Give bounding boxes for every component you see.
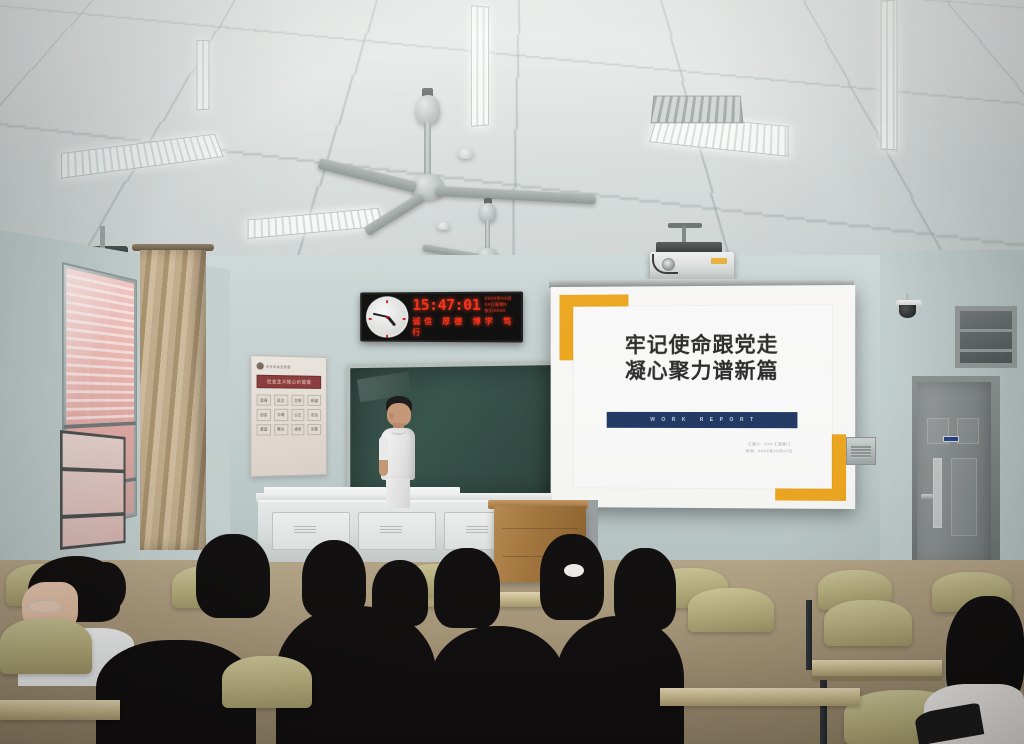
presentation-slide: 牢记使命跟党走 凝心聚力谱新篇 WORK REPORT 汇报人：XXX 汇报部门… — [551, 285, 856, 509]
led-motto-display: 诚信 厚德 博学 笃行 — [412, 316, 516, 338]
lectern-seam — [502, 528, 578, 529]
student — [556, 616, 684, 744]
led-clock-sign: 15:47:01 XXXX年XX月XX日星期X 农历XXXX 诚信 厚德 博学 … — [360, 291, 523, 342]
slide-band-label: WORK REPORT — [644, 417, 760, 423]
presenter-arm — [379, 436, 388, 476]
presenter — [374, 396, 420, 508]
poster-value-cell: 平等 — [274, 409, 288, 421]
emblem-icon — [257, 362, 264, 369]
wall-speaker-box — [846, 437, 876, 465]
poster-logo: 中共中央宣传部 — [257, 362, 322, 371]
presenter-ear — [389, 413, 394, 419]
core-values-poster: 中共中央宣传部 社会主义核心价值观 富强 民主 文明 和谐 自由 平等 公正 法… — [250, 355, 327, 477]
wall-speaker-grille — [851, 445, 871, 458]
chair — [222, 656, 312, 708]
door-panel — [951, 458, 977, 536]
student-hair — [434, 548, 500, 628]
led-time-display: 15:47:01 — [412, 296, 480, 314]
door-sign-plate — [943, 436, 959, 442]
poster-value-cell: 敬业 — [274, 424, 288, 436]
clock-hour-hand — [387, 316, 396, 326]
poster-value-cell: 法治 — [308, 409, 322, 421]
student-hair — [556, 616, 684, 744]
slide-presenter-info: 汇报人：XXX 汇报部门 时间：XXXX年XX月XX日 — [746, 441, 793, 456]
poster-value-cell: 友善 — [308, 424, 322, 436]
presenter-trousers — [386, 478, 410, 508]
slide-title-line-2: 凝心聚力谱新篇 — [573, 359, 832, 385]
window-mullion — [63, 467, 124, 473]
slide-content-panel: 牢记使命跟党走 凝心聚力谱新篇 WORK REPORT 汇报人：XXX 汇报部门… — [573, 305, 832, 489]
slide-title: 牢记使命跟党走 凝心聚力谱新篇 — [573, 333, 832, 385]
analog-clock-face — [366, 296, 409, 338]
poster-org-label: 中共中央宣传部 — [266, 364, 291, 369]
presenter-collar — [391, 428, 406, 435]
poster-value-cell: 和谐 — [308, 395, 322, 407]
desk — [0, 700, 120, 720]
window-curtain — [140, 250, 206, 550]
student-ponytail — [86, 562, 126, 612]
led-date-note: XXXX年XX月XX日星期X 农历XXXX — [484, 295, 516, 314]
door-transom-window — [955, 306, 1017, 368]
poster-value-cell: 文明 — [291, 395, 305, 407]
poster-value-cell: 自由 — [257, 409, 271, 421]
poster-value-cell: 公正 — [291, 409, 305, 421]
projector-label — [711, 258, 727, 264]
door-handle[interactable] — [921, 494, 933, 499]
door-panel — [957, 418, 979, 444]
desk-edge — [812, 676, 942, 681]
poster-value-cell: 富强 — [257, 394, 271, 406]
desk-leg — [806, 600, 812, 670]
chair — [824, 600, 912, 646]
security-camera — [896, 300, 922, 320]
poster-value-cell: 民主 — [274, 394, 288, 406]
student — [540, 534, 604, 620]
student — [196, 534, 270, 618]
slide-title-line-1: 牢记使命跟党走 — [573, 333, 832, 359]
student-hair-tie — [564, 564, 584, 577]
student — [924, 596, 1024, 744]
transom-bar — [960, 329, 1012, 332]
desk — [812, 660, 942, 676]
desk — [660, 688, 860, 706]
slide-presenter-line-2: 时间：XXXX年XX月XX日 — [746, 448, 793, 456]
door-window-slot — [933, 458, 942, 528]
chair — [688, 588, 774, 632]
transom-bar — [960, 349, 1012, 352]
student-hair — [540, 534, 604, 620]
student-hair — [430, 626, 566, 744]
chair — [0, 618, 92, 674]
slide-accent-bottom-right-vertical — [830, 434, 846, 501]
poster-value-cell: 诚信 — [291, 424, 305, 436]
stage-vent — [466, 526, 488, 533]
poster-values-grid: 富强 民主 文明 和谐 自由 平等 公正 法治 爱国 敬业 诚信 友善 — [257, 394, 322, 436]
poster-banner-title: 社会主义核心价值观 — [257, 375, 322, 389]
stage-vent — [294, 526, 316, 533]
projection-screen: 牢记使命跟党走 凝心聚力谱新篇 WORK REPORT 汇报人：XXX 汇报部门… — [551, 285, 856, 509]
camera-dome-lens — [899, 305, 916, 318]
classroom-photo: 15:47:01 XXXX年XX月XX日星期X 农历XXXX 诚信 厚德 博学 … — [0, 0, 1024, 744]
classroom-door[interactable] — [917, 382, 991, 566]
student-hair — [196, 534, 270, 618]
window-lower-pane — [60, 430, 126, 550]
ceiling-projector — [650, 238, 734, 282]
student — [434, 548, 500, 628]
window-mullion — [63, 512, 124, 519]
clock-center-pin — [386, 316, 389, 319]
slide-presenter-line-1: 汇报人：XXX 汇报部门 — [746, 441, 793, 449]
student — [430, 626, 566, 744]
slide-subtitle-band: WORK REPORT — [606, 411, 798, 428]
stage-vent — [380, 526, 402, 533]
poster-value-cell: 爱国 — [257, 424, 271, 436]
student-glasses — [28, 600, 62, 613]
